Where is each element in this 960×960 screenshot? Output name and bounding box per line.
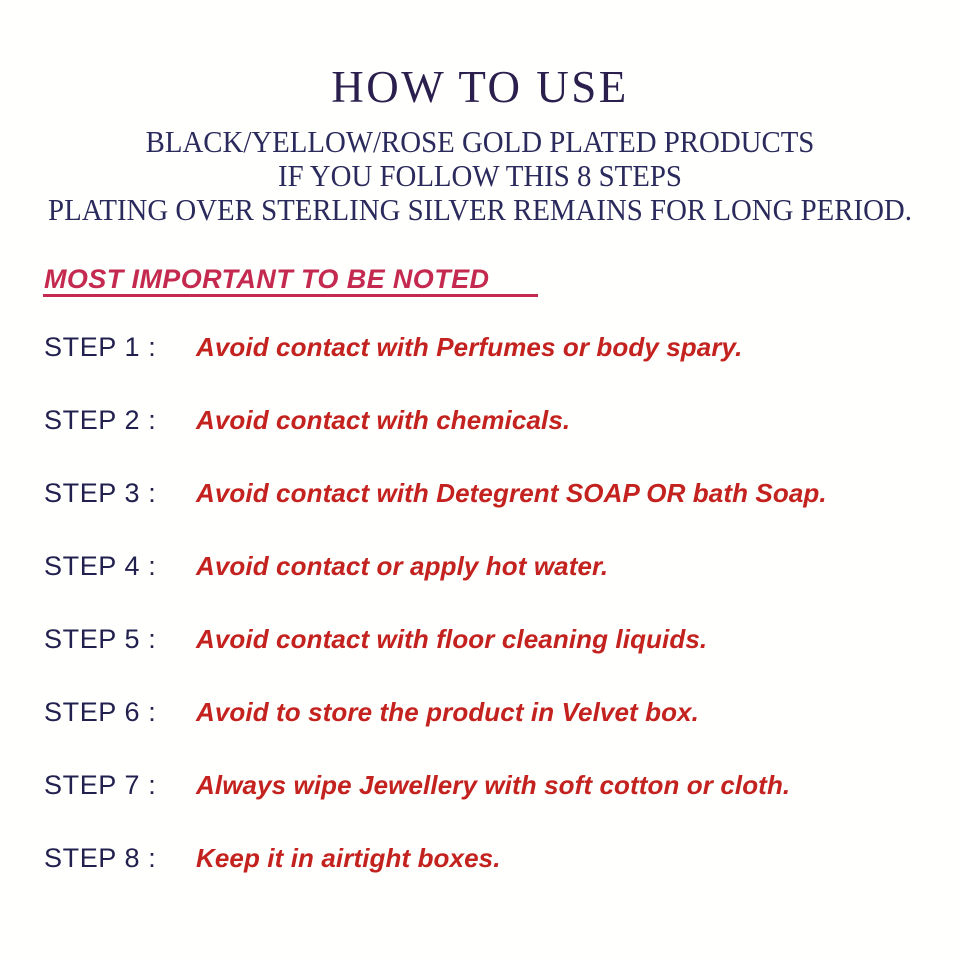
step-label: STEP 5 : xyxy=(44,623,156,655)
list-item: STEP 2 : Avoid contact with chemicals. xyxy=(0,404,960,477)
step-text: Avoid contact with chemicals. xyxy=(196,404,570,436)
list-item: STEP 4 : Avoid contact or apply hot wate… xyxy=(0,550,960,623)
page-title: HOW TO USE xyxy=(0,0,960,112)
step-label: STEP 1 : xyxy=(44,331,156,363)
poster-header: HOW TO USE BLACK/YELLOW/ROSE GOLD PLATED… xyxy=(0,0,960,227)
step-label: STEP 3 : xyxy=(44,477,156,509)
most-important-heading: MOST IMPORTANT TO BE NOTED xyxy=(44,264,489,294)
list-item: STEP 7 : Always wipe Jewellery with soft… xyxy=(0,769,960,842)
step-text: Keep it in airtight boxes. xyxy=(196,842,501,874)
list-item: STEP 3 : Avoid contact with Detegrent SO… xyxy=(0,477,960,550)
step-label: STEP 7 : xyxy=(44,769,156,801)
steps-list: STEP 1 : Avoid contact with Perfumes or … xyxy=(0,331,960,915)
list-item: STEP 5 : Avoid contact with floor cleani… xyxy=(0,623,960,696)
list-item: STEP 6 : Avoid to store the product in V… xyxy=(0,696,960,769)
step-label: STEP 6 : xyxy=(44,696,156,728)
subtitle-line-3: PLATING OVER STERLING SILVER REMAINS FOR… xyxy=(34,193,927,227)
subtitle-block: BLACK/YELLOW/ROSE GOLD PLATED PRODUCTS I… xyxy=(0,125,960,227)
subtitle-line-1: BLACK/YELLOW/ROSE GOLD PLATED PRODUCTS xyxy=(34,125,927,159)
step-text: Avoid contact or apply hot water. xyxy=(196,550,608,582)
step-text: Avoid contact with Perfumes or body spar… xyxy=(196,331,742,363)
step-label: STEP 8 : xyxy=(44,842,156,874)
step-text: Avoid contact with floor cleaning liquid… xyxy=(196,623,707,655)
step-text: Always wipe Jewellery with soft cotton o… xyxy=(196,769,790,801)
step-label: STEP 4 : xyxy=(44,550,156,582)
subtitle-line-2: IF YOU FOLLOW THIS 8 STEPS xyxy=(34,159,927,193)
step-text: Avoid to store the product in Velvet box… xyxy=(196,696,699,728)
step-text: Avoid contact with Detegrent SOAP OR bat… xyxy=(196,477,827,509)
most-important-heading-underline xyxy=(43,294,538,297)
care-instructions-poster: HOW TO USE BLACK/YELLOW/ROSE GOLD PLATED… xyxy=(0,0,960,960)
step-label: STEP 2 : xyxy=(44,404,156,436)
list-item: STEP 1 : Avoid contact with Perfumes or … xyxy=(0,331,960,404)
list-item: STEP 8 : Keep it in airtight boxes. xyxy=(0,842,960,915)
